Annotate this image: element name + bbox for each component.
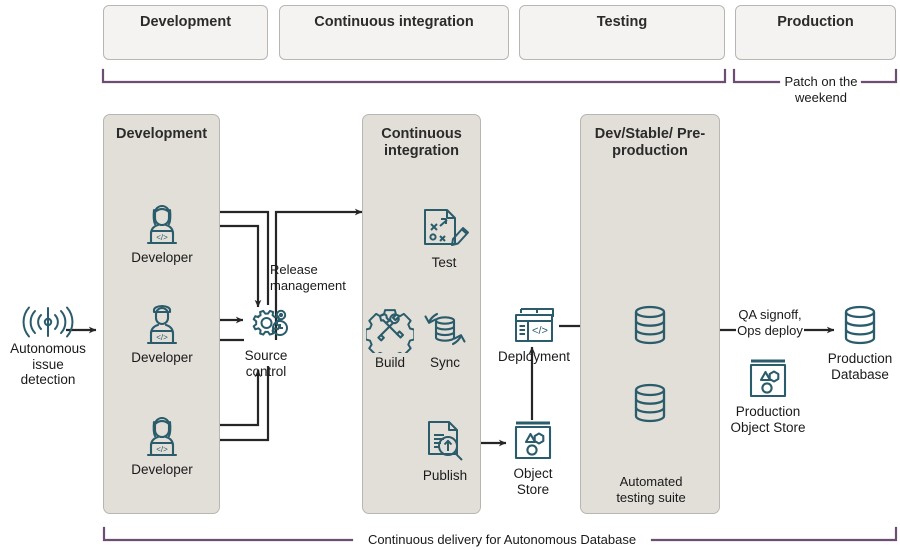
gear-tools-icon (366, 305, 414, 353)
object-store-icon (745, 356, 791, 402)
node-sync[interactable]: Sync (416, 305, 474, 371)
lane-label-pre-production: Dev/Stable/ Pre-production (581, 126, 719, 160)
node-label-production-object-store: Production Object Store (714, 404, 822, 435)
document-magnifier-icon (421, 418, 469, 466)
node-database-upper[interactable] (624, 303, 676, 349)
database-icon (628, 381, 672, 427)
database-icon (838, 303, 882, 349)
svg-text:</>: </> (156, 445, 168, 454)
node-label-developer-2: Developer (117, 350, 207, 366)
node-label-object-store: Object Store (502, 466, 564, 497)
node-deployment[interactable]: </> Deployment (487, 305, 581, 365)
svg-text:</>: </> (156, 333, 168, 342)
lane-label-continuous-integration: Continuous integration (363, 126, 480, 160)
database-icon (628, 303, 672, 349)
node-label-production-database: Production Database (806, 351, 900, 382)
edge-label-automated-testing-suite: Automated testing suite (596, 474, 706, 505)
svg-text:</>: </> (156, 233, 168, 242)
node-autonomous-issue-detection[interactable]: Autonomous issue detection (0, 305, 96, 388)
node-build[interactable]: Build (361, 305, 419, 371)
node-label-source-control: Source control (231, 348, 301, 379)
node-label-deployment: Deployment (487, 349, 581, 365)
phase-box-development[interactable]: Development (103, 5, 268, 60)
node-production-database[interactable]: Production Database (806, 303, 900, 382)
phase-box-production[interactable]: Production (735, 5, 896, 60)
developer-male-icon: </> (138, 300, 186, 348)
node-label-autonomous-issue-detection: Autonomous issue detection (0, 341, 96, 388)
bracket-main-span (103, 70, 725, 82)
developer-female-icon: </> (138, 200, 186, 248)
object-store-icon (510, 418, 556, 464)
developer-female-icon: </> (138, 412, 186, 460)
node-label-developer-1: Developer (117, 250, 207, 266)
database-sync-icon (421, 305, 469, 353)
node-label-developer-3: Developer (117, 462, 207, 478)
bracket-label-bottom: Continuous delivery for Autonomous Datab… (352, 532, 652, 548)
broadcast-signal-icon (19, 305, 77, 339)
node-publish[interactable]: Publish (414, 418, 476, 484)
svg-text:</>: </> (532, 325, 548, 337)
phase-label-production: Production (736, 14, 895, 30)
phase-box-testing[interactable]: Testing (519, 5, 725, 60)
node-database-lower[interactable] (624, 381, 676, 427)
phase-label-testing: Testing (520, 14, 724, 30)
node-object-store[interactable]: Object Store (502, 418, 564, 497)
bracket-label-patch: Patch on the weekend (760, 74, 882, 105)
phase-box-continuous-integration[interactable]: Continuous integration (279, 5, 509, 60)
browser-code-icon: </> (507, 305, 561, 347)
lane-label-development: Development (104, 126, 219, 143)
node-developer-3[interactable]: </> Developer (117, 412, 207, 478)
node-developer-1[interactable]: </> Developer (117, 200, 207, 266)
phase-label-development: Development (104, 14, 267, 30)
node-label-publish: Publish (414, 468, 476, 484)
edge-label-release-management: Release management (270, 262, 362, 293)
document-pencil-icon (418, 205, 470, 253)
node-source-control[interactable]: Source control (231, 306, 301, 379)
diagram-canvas: Development Continuous integration Testi… (0, 0, 900, 550)
gears-clock-icon (240, 306, 292, 346)
edge-label-qa-signoff: QA signoff, Ops deploy (722, 307, 818, 338)
node-label-test: Test (412, 255, 476, 271)
node-label-sync: Sync (416, 355, 474, 371)
node-test[interactable]: Test (412, 205, 476, 271)
node-label-build: Build (361, 355, 419, 371)
phase-label-continuous-integration: Continuous integration (280, 14, 508, 30)
node-developer-2[interactable]: </> Developer (117, 300, 207, 366)
